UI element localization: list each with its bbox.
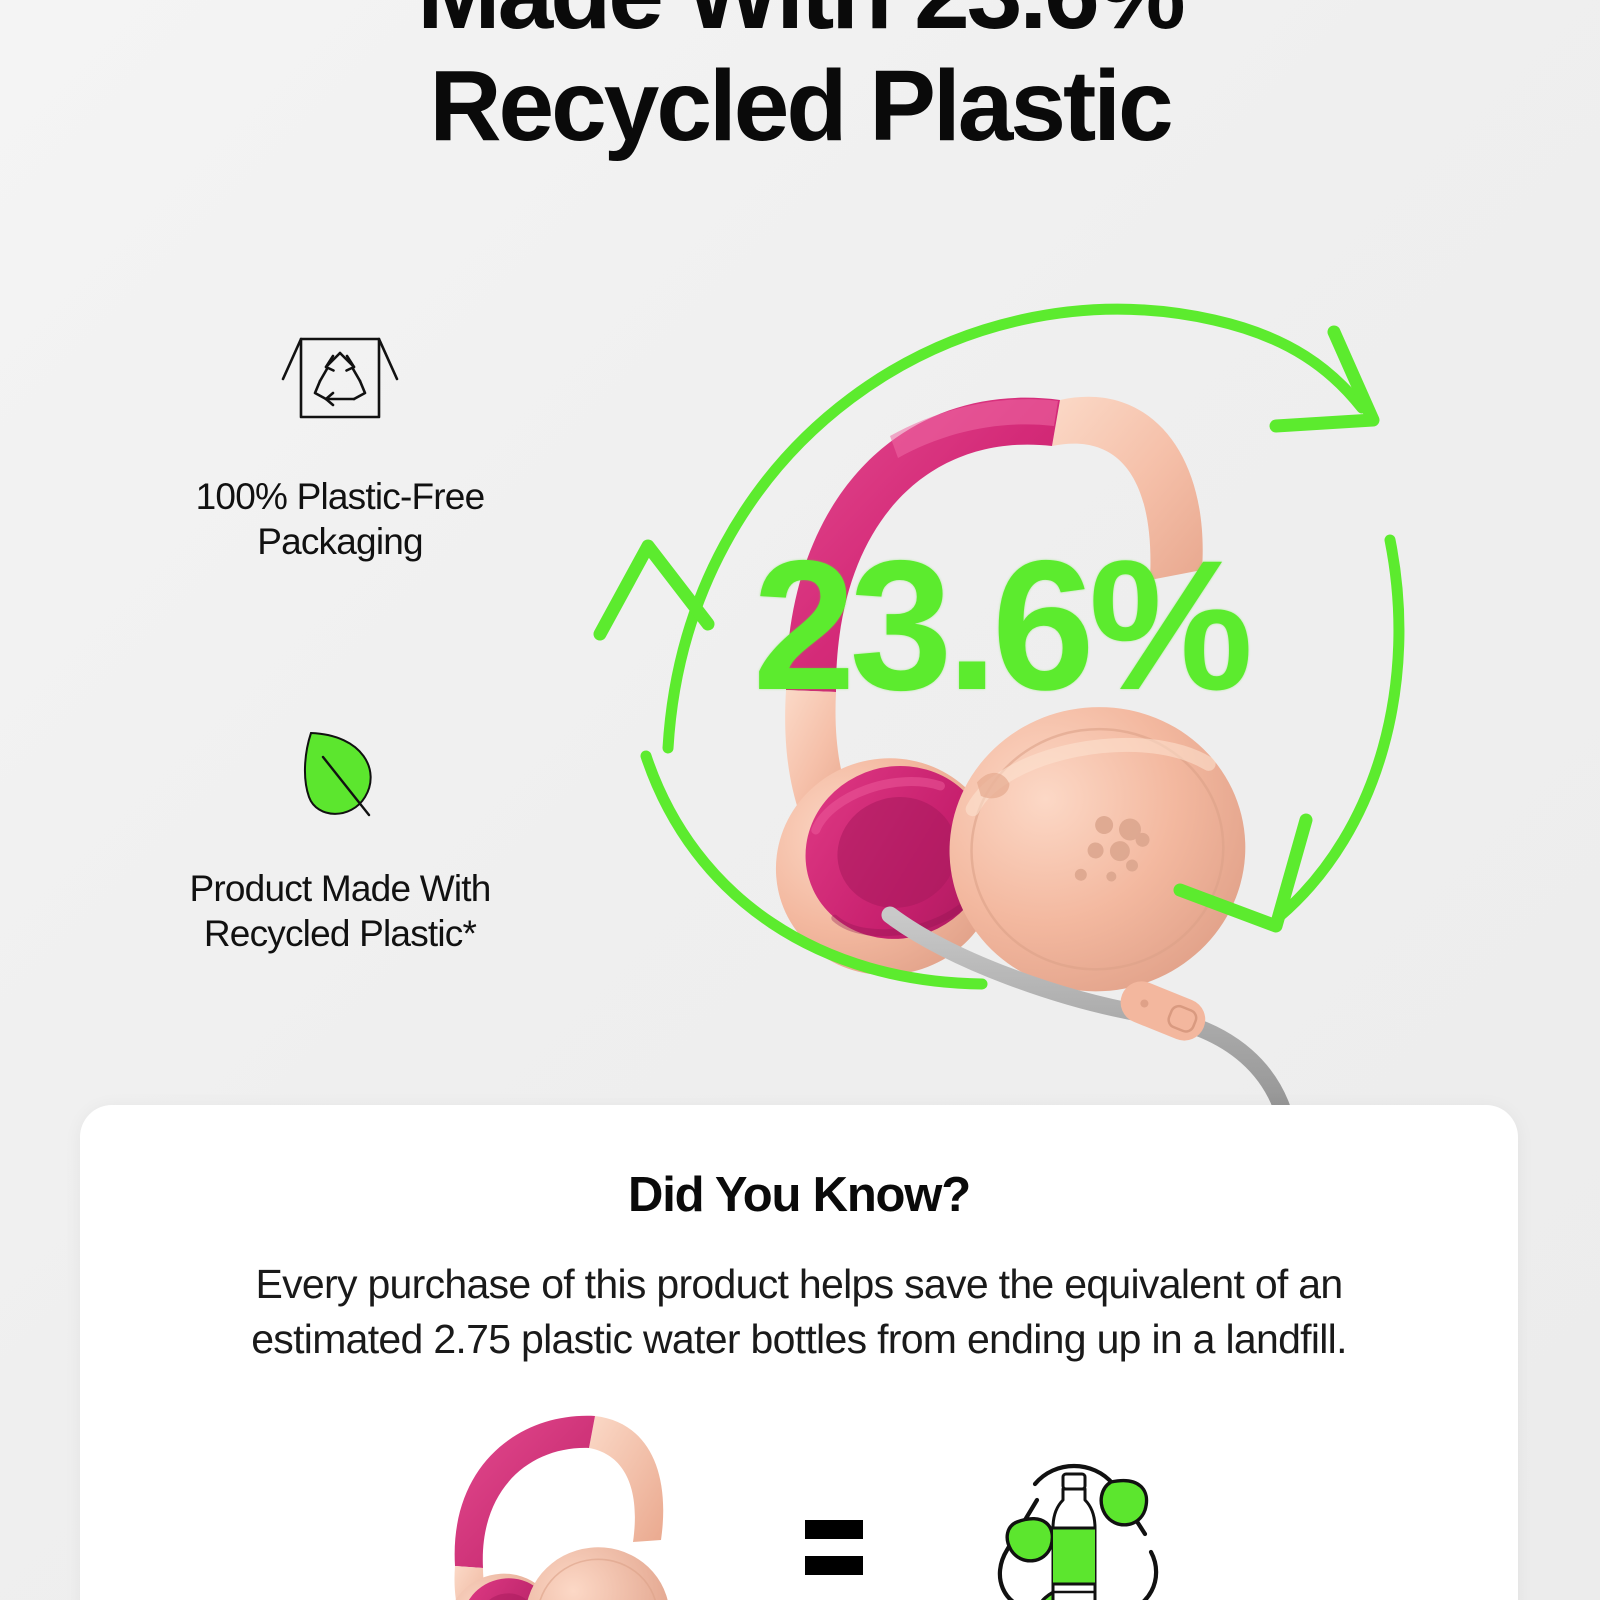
pink-headphones-product <box>409 1400 709 1600</box>
card-title: Did You Know? <box>80 1167 1518 1223</box>
feature-label: Product Made With Recycled Plastic* <box>140 866 540 956</box>
equivalence-equation <box>80 1400 1518 1600</box>
feature-recycled-plastic-product: Product Made With Recycled Plastic* <box>140 712 540 956</box>
equals-sign <box>805 1520 863 1575</box>
headline-line-2: Recycled Plastic <box>0 50 1600 162</box>
plastic-free-packaging-icon <box>140 320 540 450</box>
recycled-water-bottle-icon <box>959 1430 1189 1600</box>
equals-bar-top <box>805 1520 863 1539</box>
card-body-line-2: estimated 2.75 plastic water bottles fro… <box>234 1312 1364 1367</box>
feature-label-line-2: Recycled Plastic* <box>140 911 540 956</box>
feature-label-line-1: Product Made With <box>140 866 540 911</box>
feature-plastic-free-packaging: 100% Plastic-Free Packaging <box>140 320 540 564</box>
green-leaf-icon <box>140 712 540 842</box>
did-you-know-card: Did You Know? Every purchase of this pro… <box>80 1105 1518 1600</box>
headphones-illustration <box>750 397 1290 1140</box>
page-title: Made With 23.6% Recycled Plastic <box>0 0 1600 162</box>
marketing-page: Made With 23.6% Recycled Plastic <box>0 0 1600 1600</box>
feature-list: 100% Plastic-Free Packaging Product Made… <box>140 320 540 957</box>
feature-label-line-1: 100% Plastic-Free <box>140 474 540 519</box>
hero-svg <box>590 240 1410 1040</box>
headline-line-1: Made With 23.6% <box>0 0 1600 50</box>
feature-label-line-2: Packaging <box>140 519 540 564</box>
equals-bar-bottom <box>805 1556 863 1575</box>
card-body: Every purchase of this product helps sav… <box>234 1257 1364 1366</box>
feature-label: 100% Plastic-Free Packaging <box>140 474 540 564</box>
card-body-line-1: Every purchase of this product helps sav… <box>234 1257 1364 1312</box>
hero-product-graphic: 23.6% <box>590 240 1410 1040</box>
